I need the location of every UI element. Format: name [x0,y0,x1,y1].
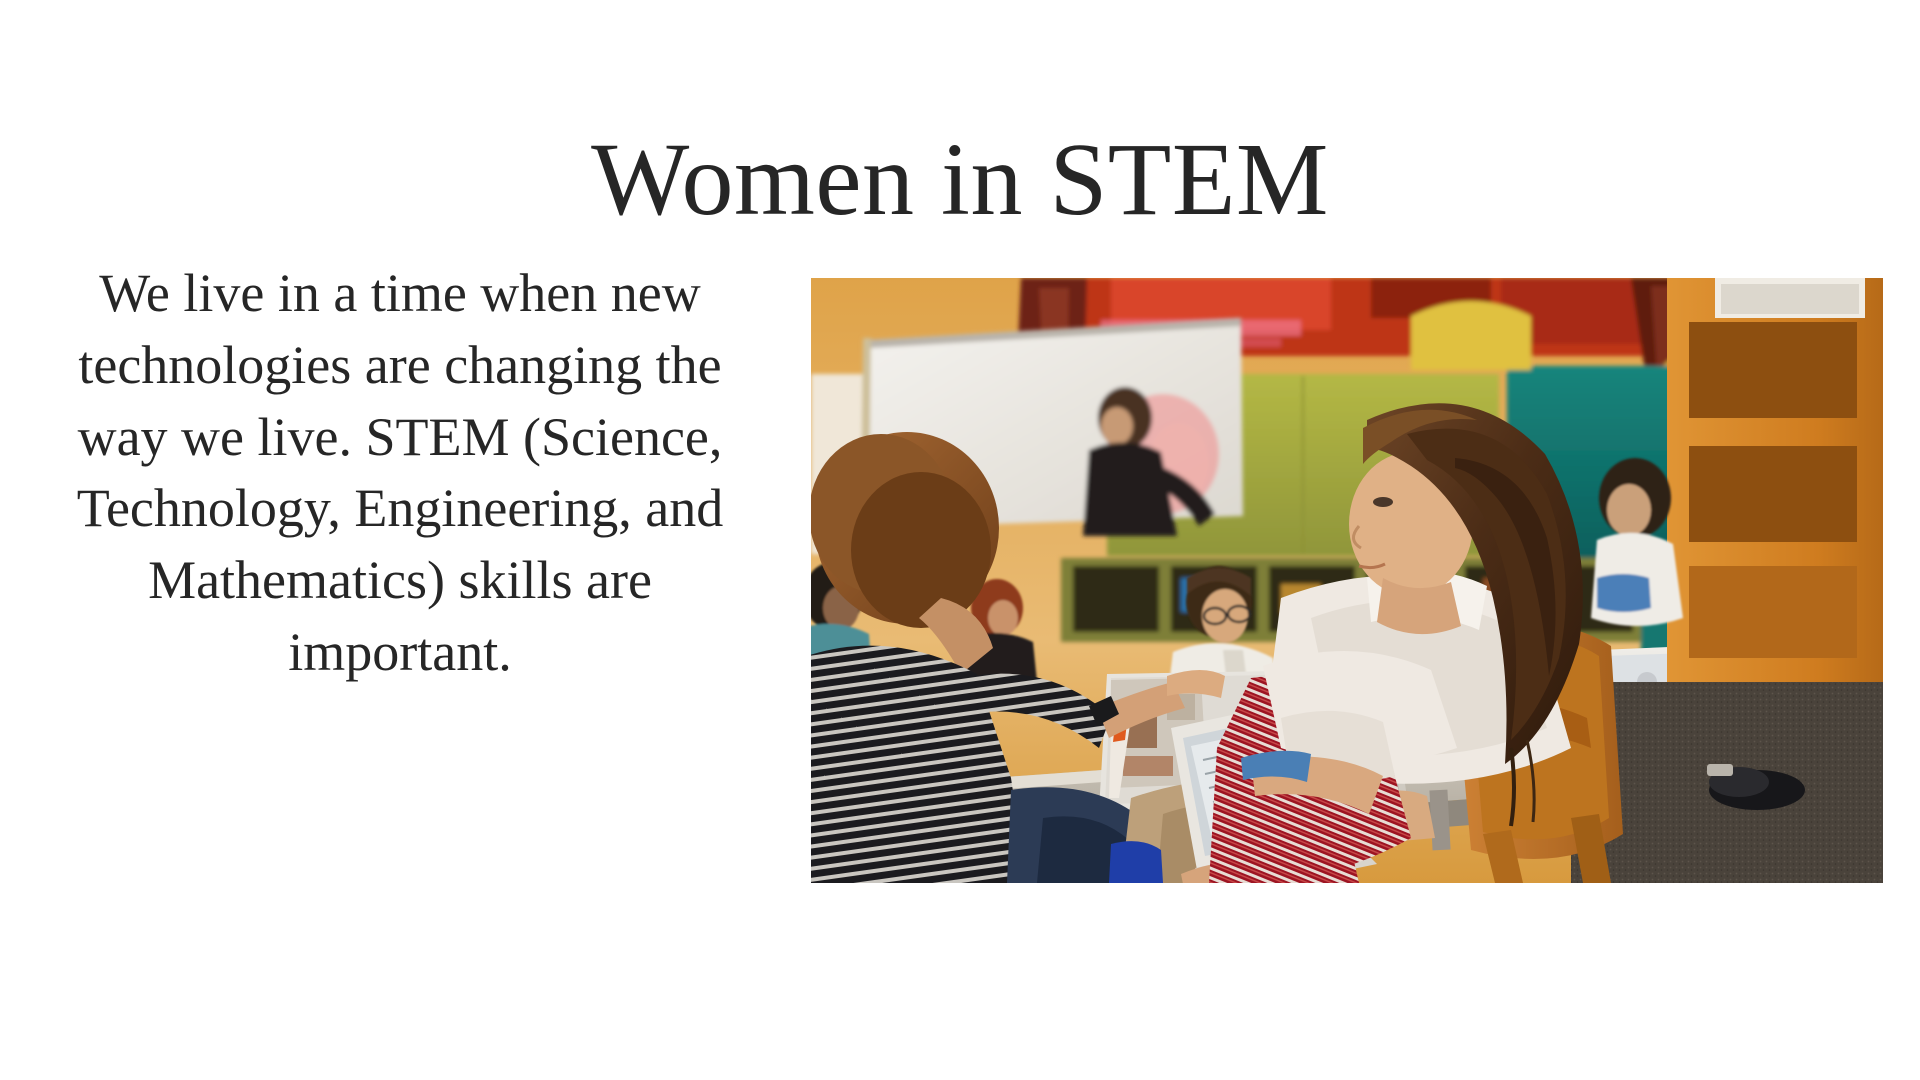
body-text-column: We live in a time when new technologies … [70,258,730,689]
photo-illustration: EXPLORATORIUM [811,278,1883,883]
page-title: Women in STEM [0,122,1920,238]
classroom-students-laptops-photo: EXPLORATORIUM [811,278,1883,883]
presentation-slide: Women in STEM We live in a time when new… [0,0,1920,1080]
body-paragraph: We live in a time when new technologies … [70,258,730,689]
